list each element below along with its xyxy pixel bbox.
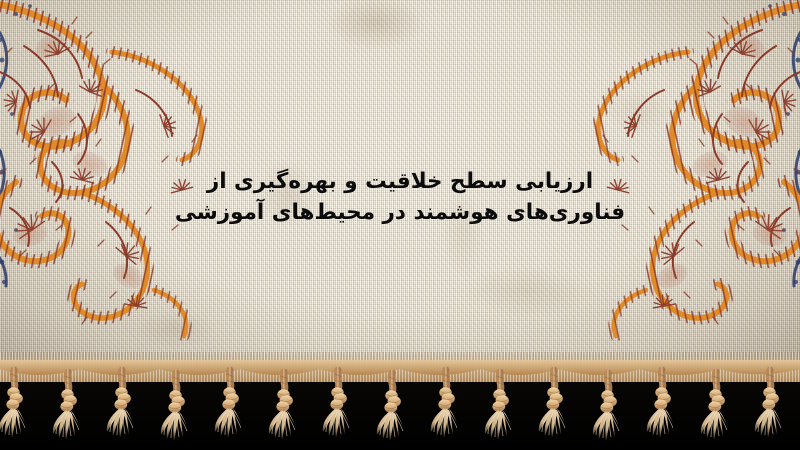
slide-canvas: ارزیابی سطح خلاقیت و بهره‌گیری از فناوری… [0, 0, 800, 450]
slide-title: ارزیابی سطح خلاقیت و بهره‌گیری از فناوری… [0, 166, 800, 228]
knotted-tassel-fringe [0, 360, 800, 450]
title-line-2: فناوری‌های هوشمند در محیط‌های آموزشی [0, 197, 800, 228]
title-line-1: ارزیابی سطح خلاقیت و بهره‌گیری از [0, 166, 800, 197]
